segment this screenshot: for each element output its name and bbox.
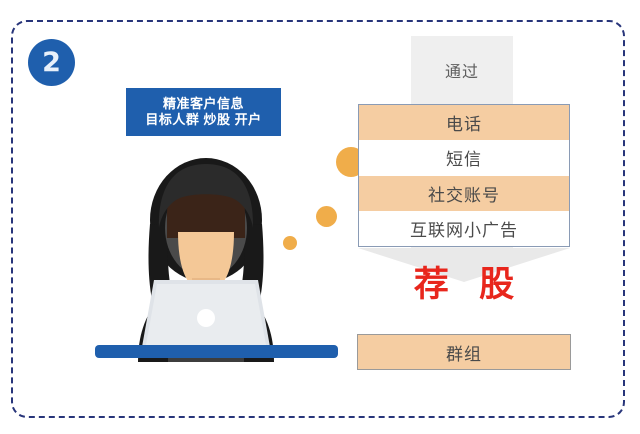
infographic-canvas: 2 精准客户信息 目标人群 炒股 开户	[0, 0, 640, 434]
channel-row: 电话	[359, 105, 569, 140]
channel-row: 互联网小广告	[359, 211, 569, 246]
channel-list: 电话 短信 社交账号 互联网小广告	[358, 104, 570, 247]
pass-through-label: 通过	[411, 58, 513, 82]
caption-line-1: 精准客户信息	[163, 97, 244, 112]
group-label: 群组	[446, 340, 482, 365]
channel-row: 社交账号	[359, 176, 569, 211]
channel-label: 互联网小广告	[410, 216, 518, 241]
group-box: 群组	[357, 334, 571, 370]
recommend-stock-title: 荐 股	[358, 266, 570, 305]
bubble-mid-icon	[316, 206, 337, 227]
channel-row: 短信	[359, 140, 569, 175]
channel-label: 短信	[446, 145, 482, 170]
step-number-label: 2	[42, 49, 61, 76]
step-number-badge: 2	[28, 39, 75, 86]
channel-label: 社交账号	[428, 181, 500, 206]
desk-bar	[95, 345, 338, 358]
bubble-small-icon	[283, 236, 297, 250]
caption-line-2: 目标人群 炒股 开户	[145, 113, 261, 128]
channel-label: 电话	[446, 110, 482, 135]
hooded-hacker-icon	[96, 142, 316, 362]
caption-box: 精准客户信息 目标人群 炒股 开户	[126, 88, 281, 136]
